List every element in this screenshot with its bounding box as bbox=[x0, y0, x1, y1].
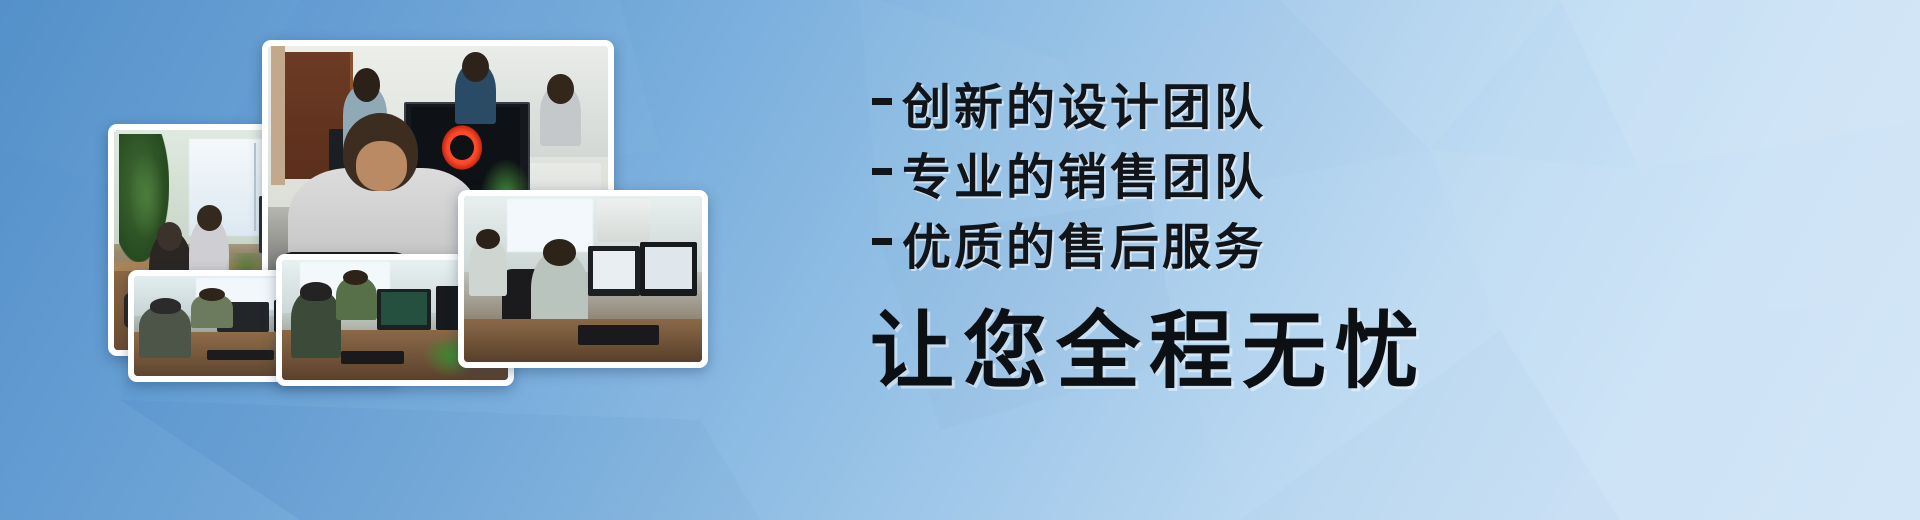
bullet-label-2: 专业的销售团队 bbox=[902, 138, 1266, 209]
photo-collage bbox=[0, 0, 860, 520]
bullet-label-3: 优质的售后服务 bbox=[902, 208, 1266, 279]
bullet-item-1: 创新的设计团队 bbox=[862, 68, 1920, 138]
dash-icon bbox=[872, 238, 892, 245]
dash-icon bbox=[872, 98, 892, 105]
photo-office-man-headset-monitors bbox=[458, 190, 708, 368]
headline: 让您全程无忧 bbox=[862, 284, 1428, 405]
bullet-item-3: 优质的售后服务 bbox=[862, 208, 1920, 278]
bullet-item-2: 专业的销售团队 bbox=[862, 138, 1920, 208]
bullet-label-1: 创新的设计团队 bbox=[902, 68, 1266, 139]
promo-banner: 创新的设计团队 专业的销售团队 优质的售后服务 让您全程无忧 bbox=[0, 0, 1920, 520]
bullet-list: 创新的设计团队 专业的销售团队 优质的售后服务 bbox=[862, 68, 1920, 278]
dash-icon bbox=[872, 168, 892, 175]
text-column: 创新的设计团队 专业的销售团队 优质的售后服务 让您全程无忧 bbox=[862, 0, 1920, 520]
